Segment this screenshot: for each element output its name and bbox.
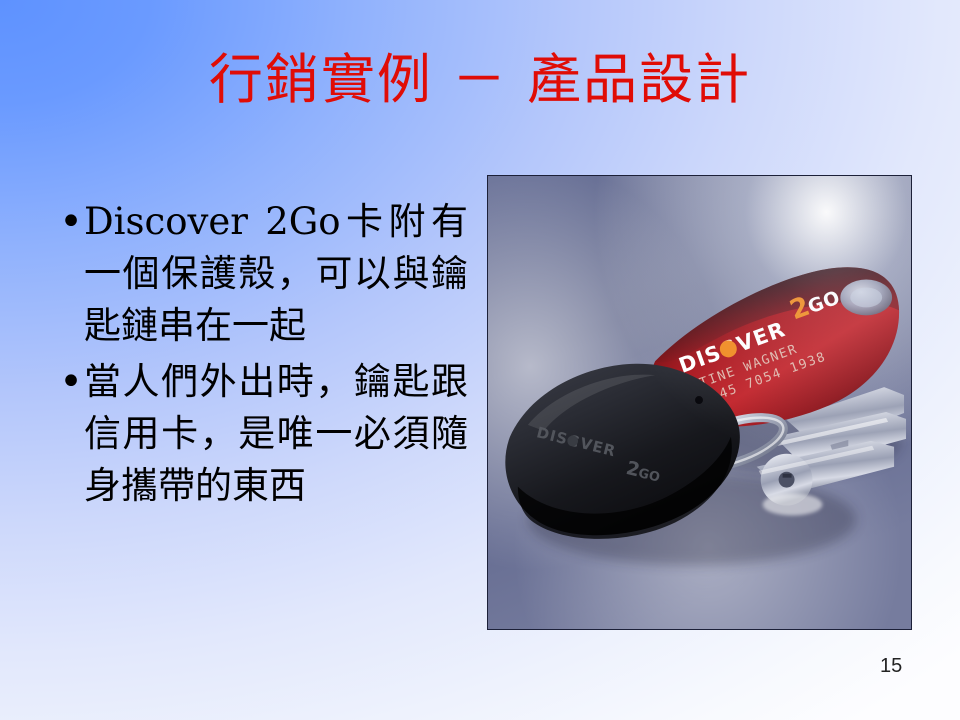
bullet-point-icon: • [58, 196, 84, 248]
product-photo-image: DISC VER 2 GO JUSTINE WAGNER 11 0145 705… [488, 176, 911, 629]
slide-title-block: 行銷實例 － 產品設計 [0, 52, 960, 109]
list-item-label: 當人們外出時，鑰匙跟信用卡，是唯一必須隨身攜帶的東西 [84, 356, 468, 512]
product-photo: DISC VER 2 GO JUSTINE WAGNER 11 0145 705… [487, 175, 912, 630]
page-title: 行銷實例 － 產品設計 [209, 52, 751, 109]
list-item: • 當人們外出時，鑰匙跟信用卡，是唯一必須隨身攜帶的東西 [58, 356, 468, 512]
slide-page-number: 15 [880, 655, 920, 677]
bullet-point-icon: • [58, 356, 84, 408]
list-item: • Discover 2Go卡附有一個保護殼，可以與鑰匙鏈串在一起 [58, 196, 468, 352]
bullet-list: • Discover 2Go卡附有一個保護殼，可以與鑰匙鏈串在一起 • 當人們外… [58, 196, 468, 516]
presentation-slide: 行銷實例 － 產品設計 • Discover 2Go卡附有一個保護殼，可以與鑰匙… [0, 0, 960, 720]
list-item-label: Discover 2Go卡附有一個保護殼，可以與鑰匙鏈串在一起 [84, 196, 468, 352]
